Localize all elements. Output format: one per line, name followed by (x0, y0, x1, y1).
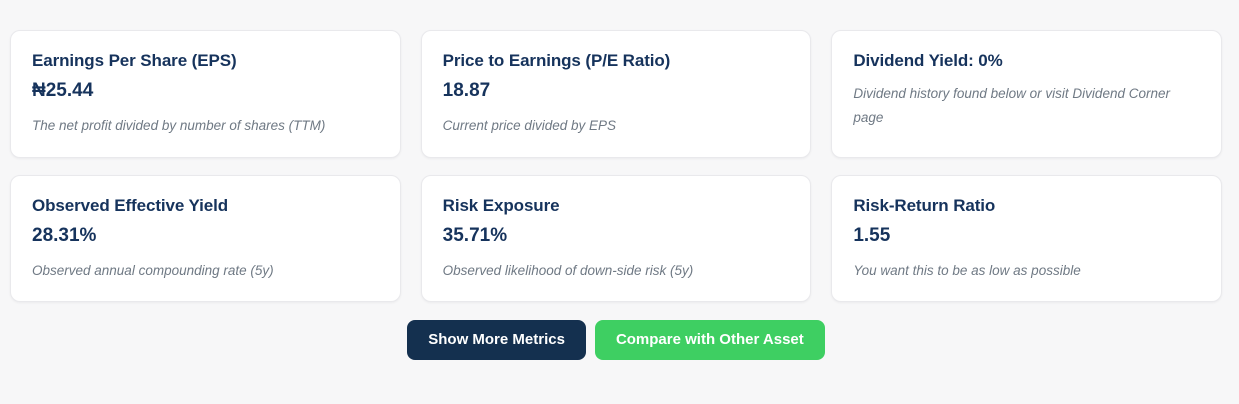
metric-card-risk-exposure: Risk Exposure 35.71% Observed likelihood… (421, 175, 812, 302)
metric-description: Current price divided by EPS (443, 114, 790, 138)
metric-value: ₦25.44 (32, 80, 379, 103)
metric-card-observed-effective-yield: Observed Effective Yield 28.31% Observed… (10, 175, 401, 302)
metrics-card-grid: Earnings Per Share (EPS) ₦25.44 The net … (10, 30, 1222, 302)
metric-card-pe-ratio: Price to Earnings (P/E Ratio) 18.87 Curr… (421, 30, 812, 158)
metric-title: Dividend Yield: 0% (853, 51, 1200, 71)
metric-description: Dividend history found below or visit Di… (853, 82, 1200, 129)
metric-title: Price to Earnings (P/E Ratio) (443, 51, 790, 71)
metric-value: 28.31% (32, 225, 379, 248)
metric-description: You want this to be as low as possible (853, 259, 1200, 283)
metric-title: Observed Effective Yield (32, 196, 379, 216)
metrics-actions-row: Show More Metrics Compare with Other Ass… (10, 320, 1222, 360)
metric-description: The net profit divided by number of shar… (32, 114, 379, 138)
metric-card-risk-return-ratio: Risk-Return Ratio 1.55 You want this to … (831, 175, 1222, 302)
metric-description: Observed annual compounding rate (5y) (32, 259, 379, 283)
metric-title: Risk-Return Ratio (853, 196, 1200, 216)
compare-with-other-asset-button[interactable]: Compare with Other Asset (595, 320, 825, 360)
metric-card-dividend-yield: Dividend Yield: 0% Dividend history foun… (831, 30, 1222, 158)
metric-value: 35.71% (443, 225, 790, 248)
metric-value: 1.55 (853, 225, 1200, 248)
show-more-metrics-button[interactable]: Show More Metrics (407, 320, 586, 360)
metrics-panel: Earnings Per Share (EPS) ₦25.44 The net … (0, 0, 1239, 360)
metric-title: Earnings Per Share (EPS) (32, 51, 379, 71)
metric-value: 18.87 (443, 80, 790, 103)
metric-card-eps: Earnings Per Share (EPS) ₦25.44 The net … (10, 30, 401, 158)
metric-description: Observed likelihood of down-side risk (5… (443, 259, 790, 283)
metric-title: Risk Exposure (443, 196, 790, 216)
